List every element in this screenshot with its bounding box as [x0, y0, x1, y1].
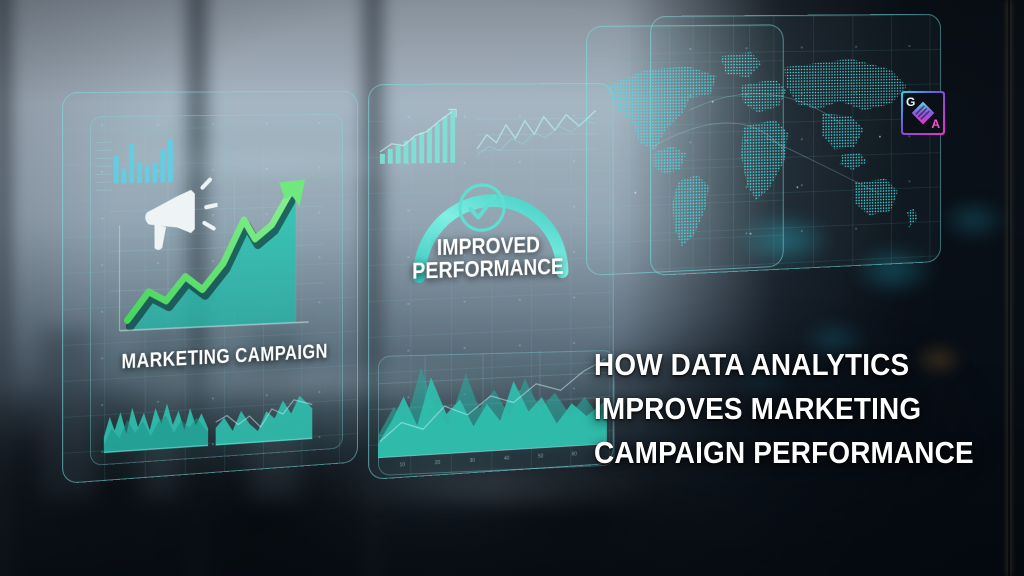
world-map-graphic: [596, 41, 934, 274]
logo-inner: G A: [903, 93, 943, 133]
svg-text:60: 60: [572, 451, 577, 457]
chart-left-bottom-a: [104, 389, 208, 453]
svg-text:20: 20: [435, 460, 441, 466]
label-line-2: PERFORMANCE: [412, 254, 563, 284]
chart-mid-top-line: [475, 105, 597, 161]
headline-line-1: HOW DATA ANALYTICS: [594, 343, 958, 387]
world-map-icon: [596, 41, 934, 274]
gold-rule-right: [1008, 0, 1010, 576]
gold-rule-left: [14, 0, 16, 576]
diamond-bars-icon: [903, 93, 943, 133]
headline-line-2: IMPROVES MARKETING: [594, 387, 958, 431]
megaphone-icon: [135, 172, 217, 264]
page-title: HOW DATA ANALYTICS IMPROVES MARKETING CA…: [594, 343, 998, 475]
svg-text:30: 30: [470, 458, 476, 464]
brand-logo[interactable]: G A: [901, 91, 945, 135]
headline-line-3: CAMPAIGN PERFORMANCE: [594, 431, 958, 475]
performance-panel-content: IMPROVED PERFORMANCE 102030: [374, 103, 612, 484]
improved-performance-label: IMPROVED PERFORMANCE: [404, 233, 572, 284]
chart-mid-top-bars: [378, 107, 472, 164]
marketing-panel-content: MARKETING CAMPAIGN: [92, 118, 340, 460]
marketing-campaign-label: MARKETING CAMPAIGN: [121, 340, 327, 374]
svg-text:40: 40: [504, 456, 509, 462]
check-circle-icon: [455, 180, 509, 236]
chart-mid-mountains: 102030 405060: [378, 347, 607, 475]
chart-left-bottom-b: [216, 383, 313, 445]
featured-image-canvas: G A: [0, 0, 1024, 576]
svg-text:50: 50: [538, 454, 543, 460]
svg-text:10: 10: [400, 462, 406, 468]
